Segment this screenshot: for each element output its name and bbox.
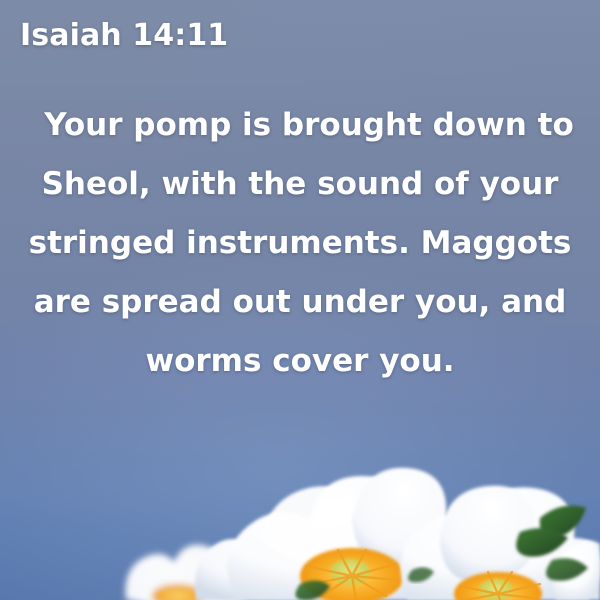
scripture-reference: Isaiah 14:11: [20, 18, 228, 53]
verse-line: Your pomp is brought down to: [16, 96, 584, 155]
flower-photo-foreground: [0, 400, 600, 600]
verse-line: Sheol, with the sound of your: [16, 155, 584, 214]
verse-line: are spread out under you, and: [16, 273, 584, 332]
verse-line: worms cover you.: [16, 332, 584, 391]
verse-text: Your pomp is brought down to Sheol, with…: [16, 96, 584, 391]
verse-image-card: Isaiah 14:11 Your pomp is brought down t…: [0, 0, 600, 600]
verse-line: stringed instruments. Maggots: [16, 214, 584, 273]
